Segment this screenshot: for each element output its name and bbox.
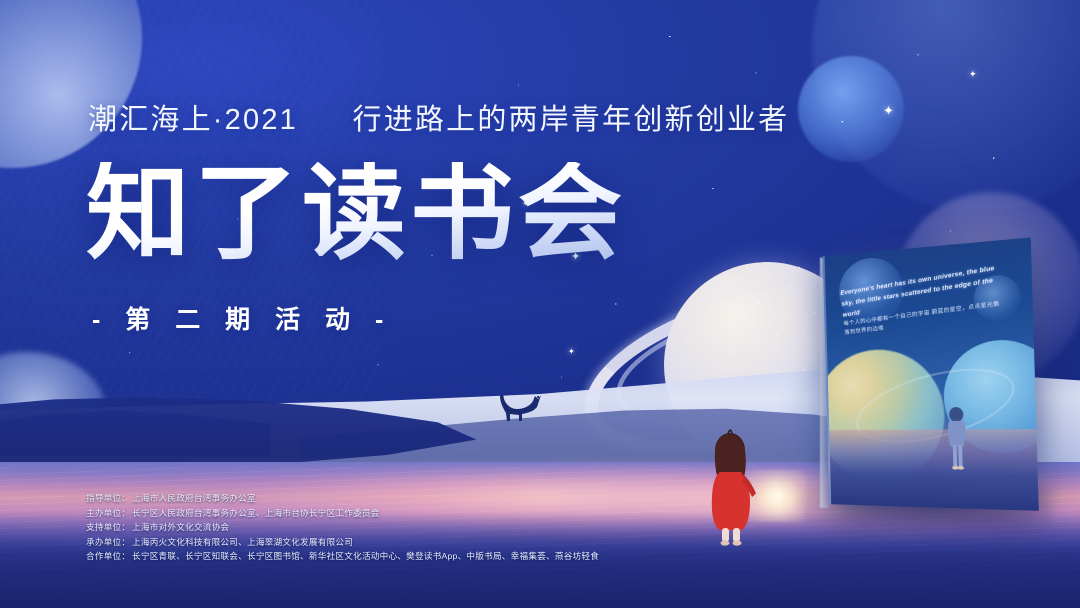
credit-row: 支持单位： 上海市对外文化交流协会 [86,520,599,535]
credits-block: 指导单位： 上海市人民政府台湾事务办公室 主办单位： 长宁区人民政府台湾事务办公… [86,491,599,564]
credit-label: 指导单位： [86,491,132,506]
credit-value: 长宁区人民政府台湾事务办公室、上海市台协长宁区工作委员会 [132,506,380,521]
credit-row: 承办单位： 上海丙火文化科技有限公司、上海翠湖文化发展有限公司 [86,535,599,550]
subtitle-sub: 行进路上的两岸青年创新创业者 [353,104,790,136]
poster-canvas: ✦ ✦ ✦ ✦ ✦ [0,0,1080,608]
credit-value: 长宁区青联、长宁区知联会、长宁区图书馆、新华社区文化活动中心、樊登读书App、中… [132,549,599,564]
credit-value: 上海丙火文化科技有限公司、上海翠湖文化发展有限公司 [132,535,353,550]
credit-row: 指导单位： 上海市人民政府台湾事务办公室 [86,491,599,506]
sparkle-icon: ✦ [568,348,575,356]
credit-row: 主办单位： 长宁区人民政府台湾事务办公室、上海市台协长宁区工作委员会 [86,506,599,521]
poster-ground [829,429,1039,511]
credit-value: 上海市人民政府台湾事务办公室 [132,491,256,506]
sparkle-icon: ✦ [969,70,977,79]
book-cover-panel: Everyone's heart has its own universe, t… [823,237,1039,510]
credit-label: 合作单位： [86,549,132,564]
credit-row: 合作单位： 长宁区青联、长宁区知联会、长宁区图书馆、新华社区文化活动中心、樊登读… [86,549,599,564]
credit-label: 支持单位： [86,520,132,535]
girl-with-lantern-icon [700,428,762,546]
event-subtitle: 潮汇海上·2021 行进路上的两岸青年创新创业者 [88,96,789,138]
event-phase-label: - 第 二 期 活 动 - [92,300,392,336]
subtitle-main: 潮汇海上·2021 [88,104,298,136]
sparkle-icon: ✦ [883,104,894,117]
credit-label: 承办单位： [86,535,132,550]
poster-figure-icon [942,406,972,472]
cat-silhouette-icon [497,392,545,422]
credit-label: 主办单位： [86,506,132,521]
page-title: 知了读书会 [86,162,626,266]
credit-value: 上海市对外文化交流协会 [132,520,229,535]
